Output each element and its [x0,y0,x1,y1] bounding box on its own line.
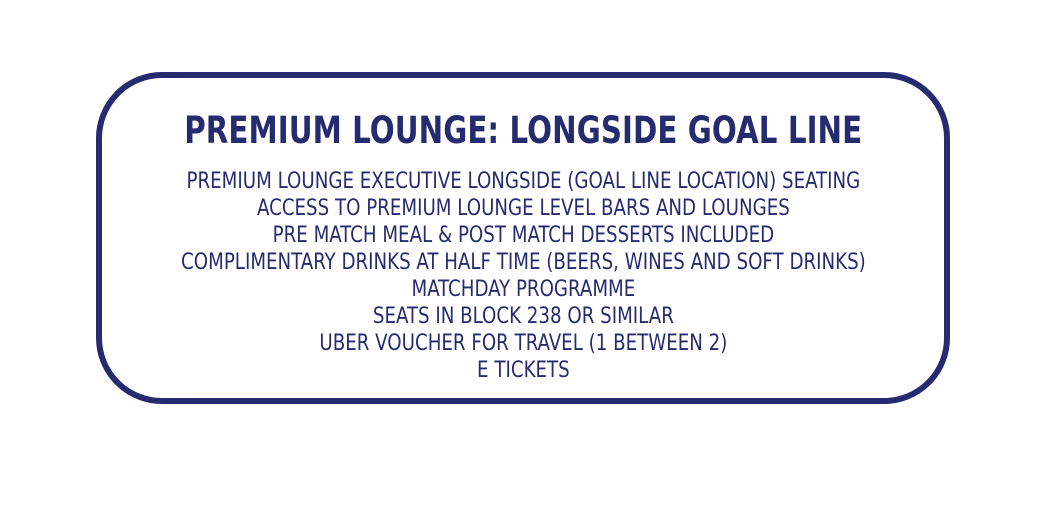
benefit-item: UBER VOUCHER FOR TRAVEL (1 BETWEEN 2) [181,330,866,357]
benefit-item: PRE MATCH MEAL & POST MATCH DESSERTS INC… [181,222,866,249]
benefit-item: SEATS IN BLOCK 238 OR SIMILAR [181,303,866,330]
package-benefits-list: PREMIUM LOUNGE EXECUTIVE LONGSIDE (GOAL … [131,168,916,384]
benefit-item: PREMIUM LOUNGE EXECUTIVE LONGSIDE (GOAL … [181,168,866,195]
benefit-item: COMPLIMENTARY DRINKS AT HALF TIME (BEERS… [181,249,866,276]
benefit-item: ACCESS TO PREMIUM LOUNGE LEVEL BARS AND … [181,195,866,222]
benefit-item: MATCHDAY PROGRAMME [181,276,866,303]
benefit-item: E TICKETS [181,357,866,384]
package-title: PREMIUM LOUNGE: LONGSIDE GOAL LINE [184,112,862,151]
hospitality-package-card: PREMIUM LOUNGE: LONGSIDE GOAL LINE PREMI… [96,72,950,404]
